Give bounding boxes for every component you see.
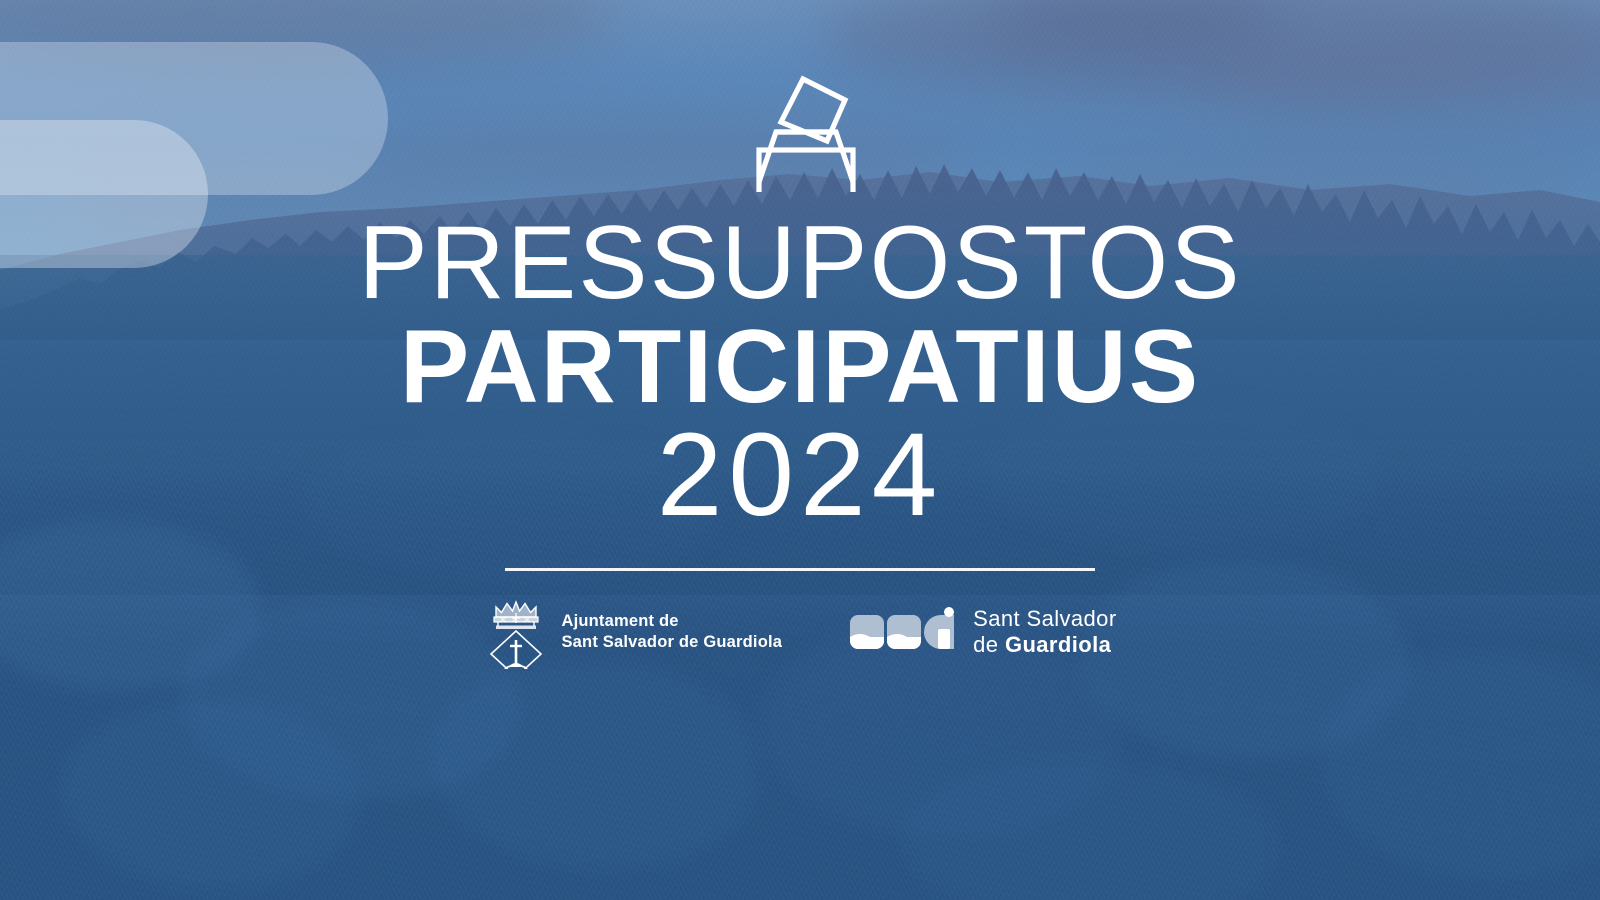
ssg-dot-icon [944, 607, 954, 617]
divider-rule [505, 568, 1095, 571]
ballot-box-icon [735, 62, 865, 192]
ssg-monogram-icon [850, 607, 962, 657]
ssg-line-2-light: de [973, 632, 1005, 657]
logo-row: Ajuntament de Sant Salvador de Guardiola [483, 595, 1116, 669]
title-block: PRESSUPOSTOS PARTICIPATIUS 2024 [0, 210, 1600, 534]
crown-icon [494, 602, 538, 629]
poster: PRESSUPOSTOS PARTICIPATIUS 2024 [0, 0, 1600, 900]
diamond-shield-icon [491, 631, 541, 669]
ssg-logo: Sant Salvador de Guardiola [850, 606, 1116, 658]
ajuntament-logo: Ajuntament de Sant Salvador de Guardiola [483, 595, 782, 669]
title-line-1: PRESSUPOSTOS [0, 210, 1600, 316]
ssg-line-1: Sant Salvador [973, 606, 1116, 632]
title-line-2: PARTICIPATIUS [0, 314, 1600, 420]
poster-content: PRESSUPOSTOS PARTICIPATIUS 2024 [0, 0, 1600, 900]
ajuntament-line-1: Ajuntament de [561, 611, 782, 632]
ssg-text: Sant Salvador de Guardiola [973, 606, 1116, 658]
ssg-letter-g [924, 615, 954, 649]
ajuntament-crest-icon [483, 595, 549, 669]
title-line-3: 2024 [0, 416, 1600, 534]
ajuntament-text: Ajuntament de Sant Salvador de Guardiola [561, 611, 782, 653]
ssg-line-2-bold: Guardiola [1005, 632, 1111, 657]
ssg-letter-s1 [850, 615, 884, 649]
ajuntament-line-2: Sant Salvador de Guardiola [561, 632, 782, 653]
ssg-line-2: de Guardiola [973, 632, 1116, 658]
ssg-letter-s2 [887, 615, 921, 649]
